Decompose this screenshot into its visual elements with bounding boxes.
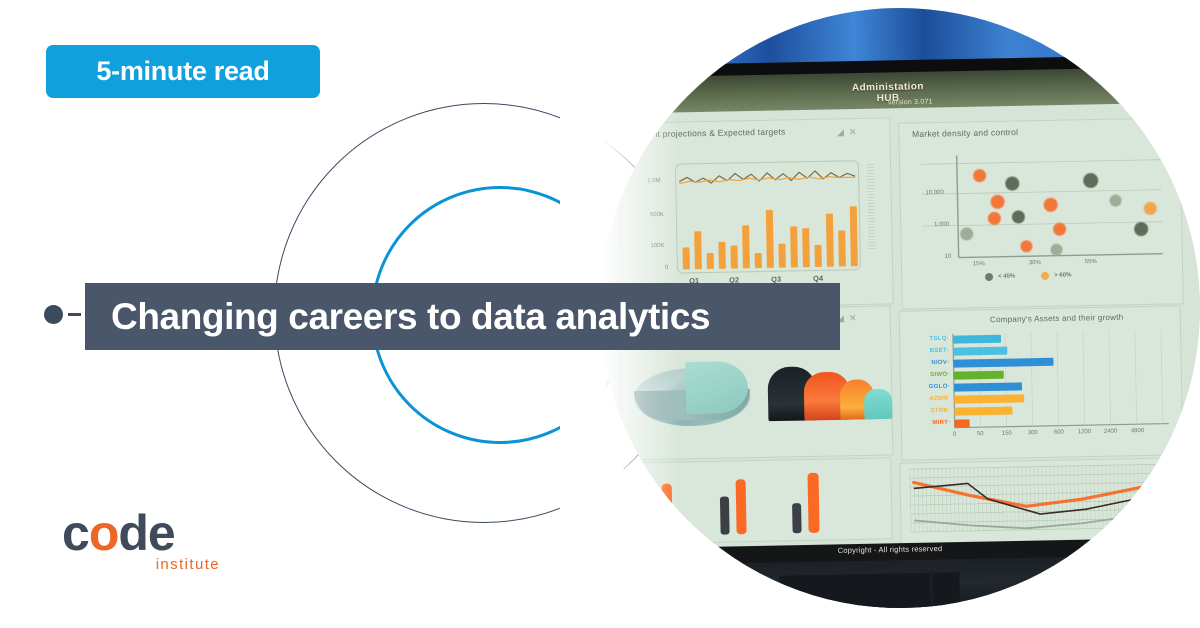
- assets-chart: TSLQ· BSET· NIOV· SIWO· GGLO· AZMN· STRB…: [909, 325, 1175, 452]
- assets-bar-tslq: [953, 335, 1001, 344]
- assets-x-tick-2400: 2400: [1104, 429, 1117, 435]
- assets-label-niov: NIOV·: [913, 360, 949, 367]
- assets-label-azmn: AZMN·: [914, 396, 950, 403]
- scatter-y-tick-10000: 10.000: [925, 190, 943, 196]
- legend-swatch-under45-icon: [985, 273, 993, 281]
- legend-swatch-over60-icon: [1041, 272, 1049, 280]
- assets-x-tick-1200: 1200: [1078, 429, 1091, 435]
- scatter-y-tick-1000: 1.000: [934, 222, 949, 228]
- title-bullet-icon: [44, 305, 63, 324]
- assets-bar-azmn: [954, 394, 1024, 403]
- projections-chart: 1.0M 500K 100K 0: [649, 146, 877, 295]
- poster-canvas: Administation HUB version 3.071 Current …: [0, 0, 1200, 628]
- logo-letter-d: d: [118, 505, 148, 561]
- assets-bar-gglo: [954, 382, 1022, 391]
- assets-bar-bset: [953, 347, 1007, 356]
- assets-bar-miry: [955, 419, 970, 427]
- scatter-x-tick-30: 30%: [1029, 260, 1041, 266]
- assets-x-tick-50: 50: [977, 431, 984, 437]
- usage-3d-funnel: [767, 359, 896, 433]
- assets-x-tick-300: 300: [1028, 430, 1038, 436]
- y-tick-500k: 500K: [650, 212, 664, 218]
- assets-x-tick-4800: 4800: [1131, 428, 1144, 434]
- assets-label-siwo: SIWO·: [914, 372, 950, 379]
- page-title-strip: Changing careers to data analytics: [85, 283, 840, 350]
- assets-x-tick-0: 0: [953, 432, 956, 438]
- logo-letter-e: e: [148, 505, 175, 561]
- logo-wordmark: code: [62, 508, 222, 558]
- assets-bar-strb: [954, 407, 1012, 416]
- scatter-x-tick-55: 55%: [1085, 259, 1097, 265]
- title-dash-icon: [68, 313, 81, 316]
- assets-label-miry: MIRY·: [915, 420, 951, 427]
- assets-x-tick-150: 150: [1002, 431, 1012, 437]
- legend-label-over60: > 60%: [1054, 272, 1071, 278]
- assets-x-tick-600: 600: [1054, 430, 1064, 436]
- assets-label-bset: BSET·: [913, 348, 949, 355]
- scatter-points: [957, 152, 1163, 258]
- panel-usage-controls[interactable]: ◢✕: [837, 313, 862, 324]
- logo-letter-o: o: [89, 505, 119, 561]
- legend-label-under45: < 45%: [998, 274, 1015, 280]
- scatter-y-tick-10: 10: [945, 254, 952, 260]
- read-time-badge: 5-minute read: [46, 45, 320, 98]
- logo-letter-c: c: [62, 505, 89, 561]
- assets-bar-siwo: [954, 371, 1004, 380]
- scatter-legend: < 45% > 60%: [985, 271, 1072, 281]
- projections-trend-line: [675, 162, 858, 197]
- usage-bottom-left-chart: [633, 464, 874, 539]
- y-tick-0: 0: [665, 265, 668, 271]
- panel-market-density-title: Market density and control: [912, 127, 1018, 139]
- read-time-label: 5-minute read: [96, 56, 269, 87]
- panel-projections-controls[interactable]: ◢✕: [837, 127, 862, 138]
- x-tick-q4: Q4: [813, 274, 823, 283]
- monitor-cable: [929, 569, 993, 608]
- market-density-chart: 10.000 1.000 10: [911, 142, 1172, 302]
- y-tick-1m: 1.0M: [647, 178, 660, 184]
- y-tick-100k: 100K: [650, 243, 664, 249]
- brand-logo[interactable]: code institute: [62, 508, 222, 573]
- assets-label-gglo: GGLO·: [914, 384, 950, 391]
- page-title: Changing careers to data analytics: [85, 296, 710, 338]
- usage-bottom-right-chart: [909, 461, 1174, 540]
- app-version-label: version 3.071: [888, 99, 933, 107]
- projections-bars: [680, 196, 857, 269]
- assets-label-tslq: TSLQ·: [913, 336, 949, 343]
- usage-3d-pie: [633, 353, 755, 439]
- scatter-x-tick-15: 15%: [973, 261, 985, 267]
- assets-label-strb: STRB·: [914, 408, 950, 415]
